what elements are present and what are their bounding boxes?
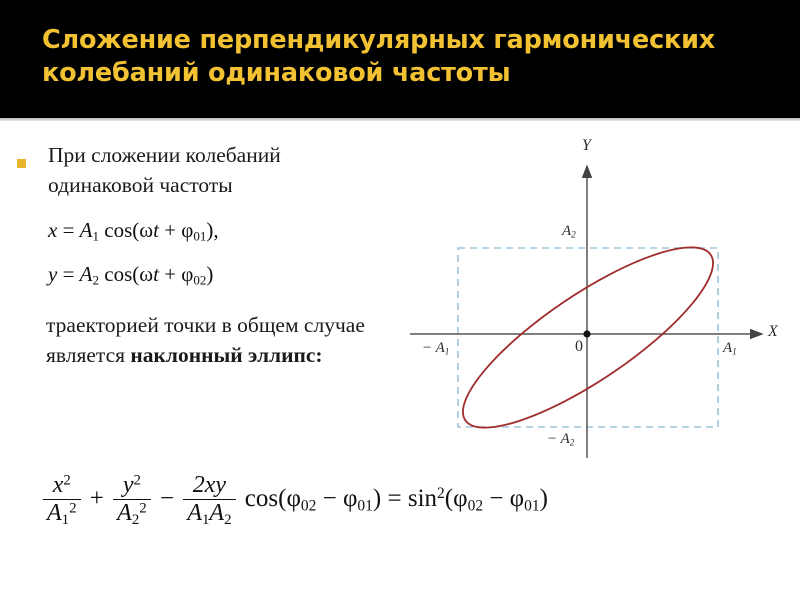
equation-x-phi-sub: 01 <box>193 229 206 244</box>
equation-x-lhs: x <box>48 218 57 242</box>
formula-op-1: + <box>90 485 104 512</box>
equation-y-plus: + <box>164 262 176 286</box>
equation-y-close: ) <box>206 262 213 286</box>
formula-term-1: x2 A12 <box>43 472 81 529</box>
formula-cos-phi-b-sub: 01 <box>357 497 373 514</box>
formula-term-3-denominator: A1A2 <box>183 499 235 529</box>
formula-term-2: y2 A22 <box>113 472 151 529</box>
formula-sin-close: ) <box>540 485 548 512</box>
equation-x-amplitude-sub: 1 <box>93 229 100 244</box>
equation-x-cos: cos( <box>104 218 139 242</box>
equation-x: x = A1 cos(ωt + φ01), <box>48 218 219 245</box>
equation-x-plus: + <box>164 218 176 242</box>
formula-term-1-num-sup: 2 <box>63 472 70 488</box>
formula-sin-minus: − <box>489 485 503 512</box>
formula-term-2-numerator: y2 <box>113 472 151 499</box>
formula-term-1-den-var: A <box>47 500 62 526</box>
origin-label: 0 <box>575 338 583 356</box>
y-min-label-text: − A <box>547 431 570 447</box>
equation-y-lhs: y <box>48 262 57 286</box>
formula-op-2: − <box>160 485 174 512</box>
y-min-label-sub: 2 <box>570 439 575 449</box>
formula-cos-minus: − <box>323 485 337 512</box>
formula-term-2-num-var: y <box>123 472 134 498</box>
formula-term-2-denominator: A22 <box>113 499 151 529</box>
trajectory-emphasis: наклонный эллипс: <box>130 343 322 367</box>
equation-x-omega: ω <box>139 218 153 242</box>
formula-term-2-num-sup: 2 <box>134 472 141 488</box>
formula-term-1-den-sub: 1 <box>62 512 69 528</box>
formula-sin-phi-a-sub: 02 <box>468 497 484 514</box>
equation-x-amplitude: A <box>80 218 93 242</box>
page-title: Сложение перпендикулярных гармонических … <box>42 24 762 90</box>
trajectory-paragraph: траекторией точки в общем случае являетс… <box>46 310 396 370</box>
formula-sin-phi-b-sub: 01 <box>524 497 540 514</box>
x-min-label-text: − A <box>422 340 445 356</box>
equation-y-cos: cos( <box>104 262 139 286</box>
equation-y-phi-sub: 02 <box>193 273 206 288</box>
x-min-label: − A1 <box>422 340 449 358</box>
formula-sin-phi-b: φ <box>510 485 524 512</box>
equation-y-phi: φ <box>181 262 193 286</box>
ellipse-diagram: Y X 0 A2 − A2 − A1 A1 <box>410 128 800 468</box>
header-divider <box>0 118 800 121</box>
x-max-label-text: A <box>723 340 732 356</box>
y-axis-label: Y <box>582 137 591 155</box>
equation-y: y = A2 cos(ωt + φ02) <box>48 262 213 289</box>
equation-x-t: t <box>153 218 159 242</box>
x-axis-label: X <box>768 323 778 341</box>
equation-y-t: t <box>153 262 159 286</box>
formula-cos-phi-a-sub: 02 <box>301 497 317 514</box>
equation-x-close: ), <box>206 218 218 242</box>
x-max-label-sub: 1 <box>732 348 737 358</box>
bullet-square-icon <box>17 159 26 168</box>
equation-y-amplitude: A <box>80 262 93 286</box>
formula-term-3-num-var: 2xy <box>193 472 226 498</box>
formula-term-1-num-var: x <box>53 472 64 498</box>
formula-cos-phi-a: φ <box>286 485 300 512</box>
formula-term-1-numerator: x2 <box>43 472 81 499</box>
bullet-item-text: При сложении колебаний одинаковой частот… <box>48 140 378 200</box>
equation-y-omega: ω <box>139 262 153 286</box>
formula-term-3-den-a1: A <box>187 500 202 526</box>
formula-equals: = <box>388 485 402 512</box>
formula-sin-sup: 2 <box>437 485 445 502</box>
y-max-label-text: A <box>562 223 571 239</box>
x-min-label-sub: 1 <box>445 348 450 358</box>
formula-term-3-den-a2: A <box>209 500 224 526</box>
formula-term-3: 2xy A1A2 <box>183 472 235 529</box>
ellipse-equation: x2 A12 + y2 A22 − 2xy A1A2 cos(φ02 − φ01… <box>40 472 548 529</box>
bounding-box-dashed <box>458 248 718 427</box>
y-max-label-sub: 2 <box>571 231 576 241</box>
formula-term-3-den-a2-sub: 2 <box>224 512 231 528</box>
equation-y-equals: = <box>63 262 75 286</box>
equation-y-amplitude-sub: 2 <box>93 273 100 288</box>
formula-cos: cos( <box>245 485 287 512</box>
formula-term-3-numerator: 2xy <box>183 472 235 499</box>
formula-sin-phi-a: φ <box>453 485 467 512</box>
formula-sin: sin <box>408 485 437 512</box>
x-max-label: A1 <box>723 340 737 358</box>
equation-x-equals: = <box>63 218 75 242</box>
trajectory-ellipse <box>441 219 734 456</box>
formula-term-2-den-var: A <box>117 500 132 526</box>
equation-x-phi: φ <box>181 218 193 242</box>
formula-term-1-den-sup: 2 <box>69 500 76 516</box>
formula-term-2-den-sup: 2 <box>139 500 146 516</box>
formula-cos-close: ) <box>373 485 381 512</box>
y-min-label: − A2 <box>547 431 574 449</box>
y-max-label: A2 <box>562 223 576 241</box>
formula-cos-phi-b: φ <box>343 485 357 512</box>
origin-point <box>583 330 590 337</box>
formula-sin-open: ( <box>445 485 453 512</box>
formula-term-1-denominator: A12 <box>43 499 81 529</box>
diagram-svg <box>410 128 800 468</box>
